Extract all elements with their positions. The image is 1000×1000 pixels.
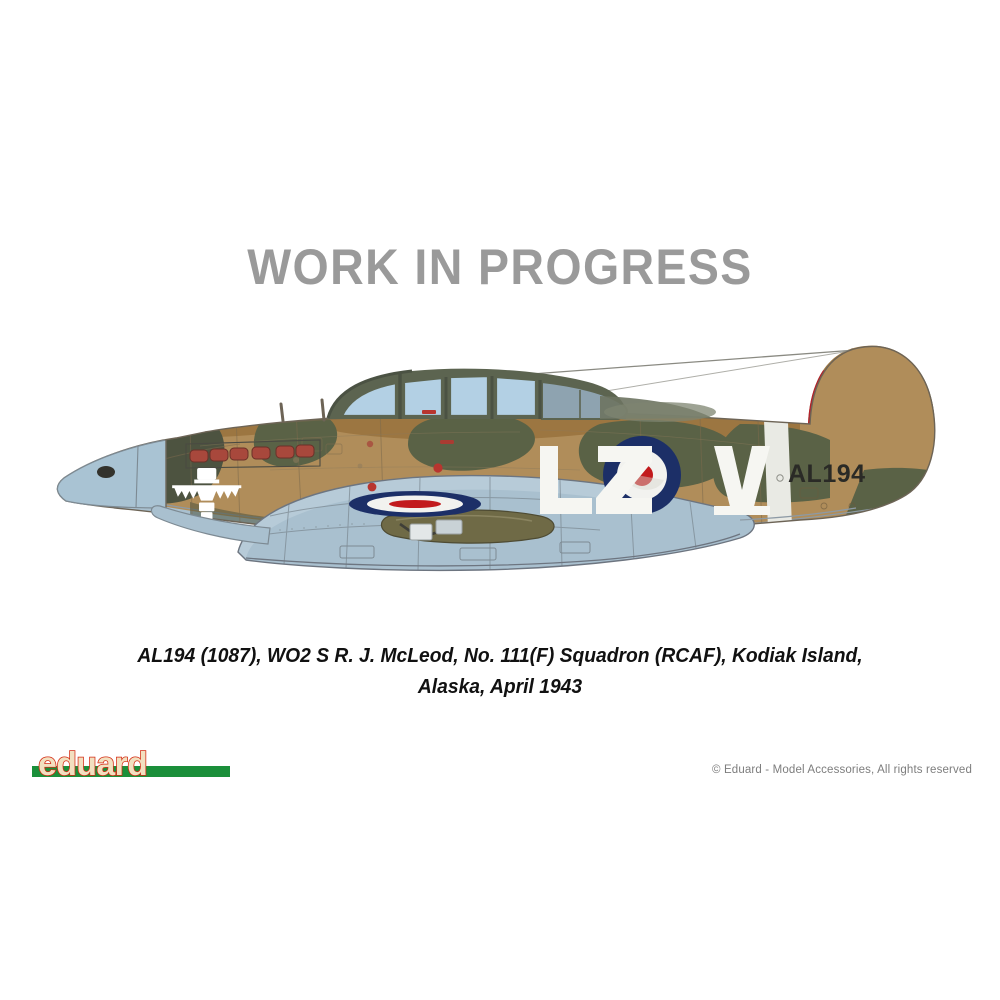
serial-number: AL194 bbox=[788, 460, 866, 488]
copyright-notice: © Eduard - Model Accessories, All rights… bbox=[712, 764, 972, 776]
work-in-progress-watermark: WORK IN PROGRESS bbox=[35, 238, 965, 296]
eduard-logo[interactable]: eduard bbox=[30, 748, 235, 784]
underwing-roundel bbox=[349, 491, 481, 517]
canopy bbox=[328, 369, 716, 422]
antenna-masts bbox=[281, 400, 324, 421]
logo-wordmark: eduard bbox=[38, 748, 147, 783]
caption: AL194 (1087), WO2 S R. J. McLeod, No. 11… bbox=[124, 640, 876, 702]
caption-line-1: AL194 (1087), WO2 S R. J. McLeod, No. 11… bbox=[124, 640, 876, 671]
caption-line-2: Alaska, April 1943 bbox=[124, 671, 876, 702]
aircraft-side-profile-illustration: AL194 bbox=[40, 320, 970, 630]
profile-page: WORK IN PROGRESS bbox=[0, 0, 1000, 1000]
nav-light bbox=[433, 463, 442, 472]
